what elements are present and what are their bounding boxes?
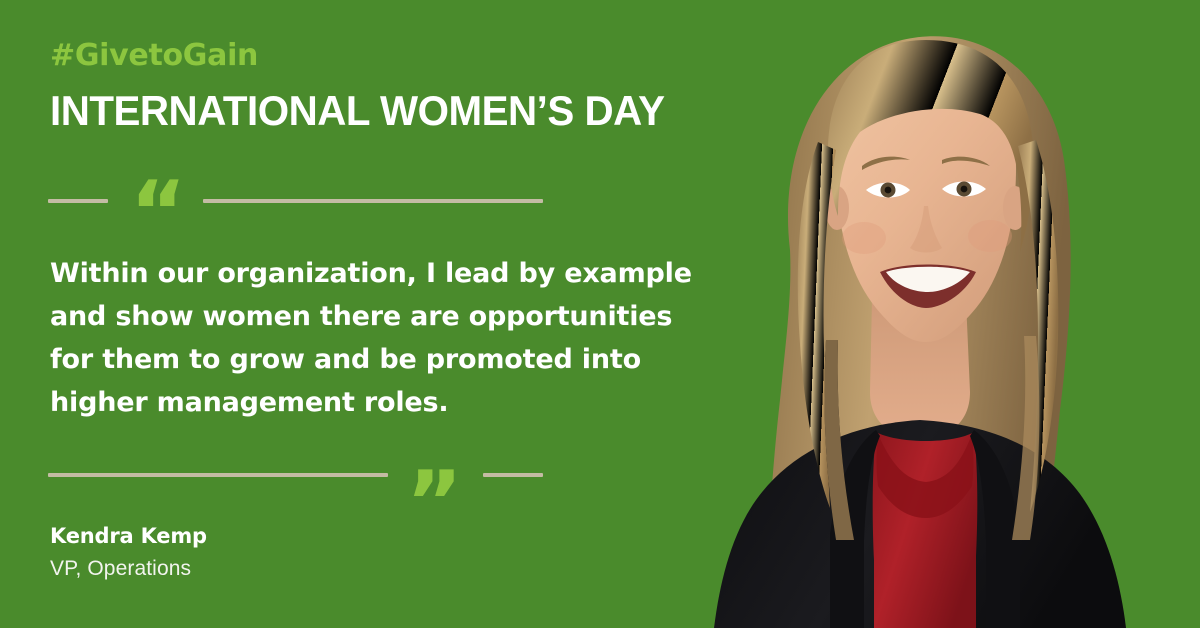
quote-line: higher management roles. [50,381,630,424]
cheek-left [842,222,886,254]
quote-text: Within our organization, I lead by examp… [50,252,630,424]
hashtag-label: #GivetoGain [50,38,258,73]
divider-rule-short [48,199,108,203]
quote-line: for them to grow and be promoted into [50,338,630,381]
portrait-photo [640,0,1200,628]
quote-line: Within our organization, I lead by examp… [50,252,630,295]
divider-rule-long [203,199,543,203]
person-role: VP, Operations [50,556,207,582]
poster: #GivetoGain INTERNATIONAL WOMEN’S DAY “ … [0,0,1200,628]
cheek-right [968,220,1012,252]
quote-divider-top: “ [48,178,553,224]
content-column: #GivetoGain INTERNATIONAL WOMEN’S DAY “ … [0,0,660,628]
page-title: INTERNATIONAL WOMEN’S DAY [50,88,664,134]
divider-rule-short [483,473,543,477]
person-name: Kendra Kemp [50,522,207,550]
pupil-right [961,186,968,193]
quote-divider-bottom: ” [48,452,553,498]
quote-line: and show women there are opportunities [50,295,630,338]
attribution: Kendra Kemp VP, Operations [50,522,207,582]
pupil-left [885,187,892,194]
divider-rule-long [48,473,388,477]
